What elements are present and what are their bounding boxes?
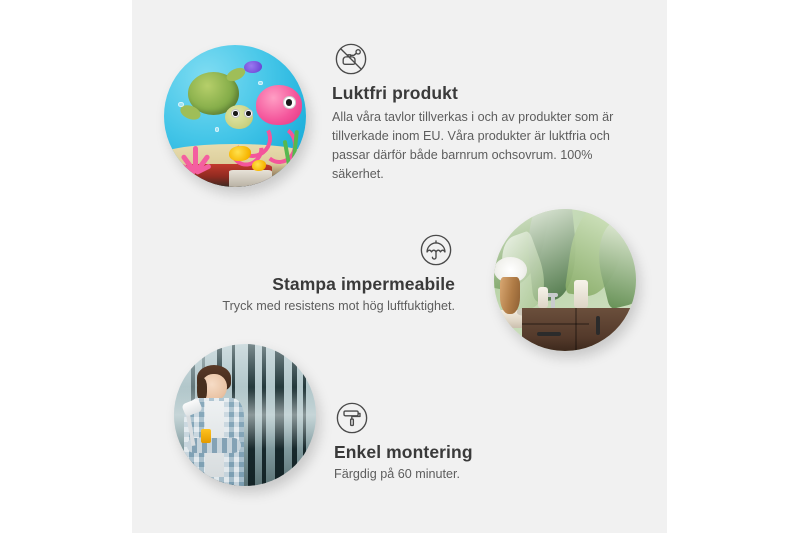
feature-body: Tryck med resistens mot hög luftfuktighe…: [190, 297, 455, 316]
turtle-eye: [244, 109, 253, 118]
feature-title: Luktfri produkt: [332, 83, 622, 104]
feature-easy-mount: Enkel montering Färgdig på 60 minuter.: [334, 401, 584, 484]
pink-coral: [175, 134, 215, 172]
no-fragrance-icon: [334, 42, 368, 76]
feature-body: Alla våra tavlor tillverkas i och av pro…: [332, 108, 622, 185]
door-handle: [596, 316, 600, 335]
bathroom-jar: [538, 287, 548, 308]
blue-fish: [244, 61, 262, 74]
feature-title: Stampa impermeabile: [190, 274, 455, 295]
vanity-cabinet: [522, 308, 636, 351]
bathroom-jar: [574, 280, 588, 308]
cabinet-seam: [575, 308, 577, 351]
drawer-handle: [537, 332, 561, 336]
turtle-eye: [231, 109, 240, 118]
vase: [500, 277, 520, 314]
feature-odourless: Luktfri produkt Alla våra tavlor tillver…: [332, 42, 622, 185]
product-photo-bathroom: Bathroom vanity in front of green tropic…: [494, 209, 636, 351]
product-photo-forest: Smiling woman holding a paint roller in …: [174, 344, 316, 486]
bubble: [258, 81, 263, 86]
bubble: [215, 127, 219, 131]
umbrella-icon: [419, 233, 453, 267]
feature-title: Enkel montering: [334, 442, 584, 463]
sea-wreck-secondary: [229, 170, 272, 187]
paint-roller-icon: [335, 401, 369, 435]
feature-waterproof: Stampa impermeabile Tryck med resistens …: [190, 233, 455, 316]
underwater-artwork: [164, 45, 306, 187]
forest-artwork: [174, 344, 316, 486]
promo-banner: Cartoon underwater mural with sea turtle…: [0, 0, 800, 533]
octopus-eye: [283, 96, 296, 109]
product-photo-underwater: Cartoon underwater mural with sea turtle…: [164, 45, 306, 187]
paint-can: [201, 429, 211, 443]
painter-folded-arms: [187, 438, 241, 454]
cabinet-seam: [522, 323, 589, 325]
feature-body: Färgdig på 60 minuter.: [334, 465, 584, 484]
bathroom-artwork: [494, 209, 636, 351]
